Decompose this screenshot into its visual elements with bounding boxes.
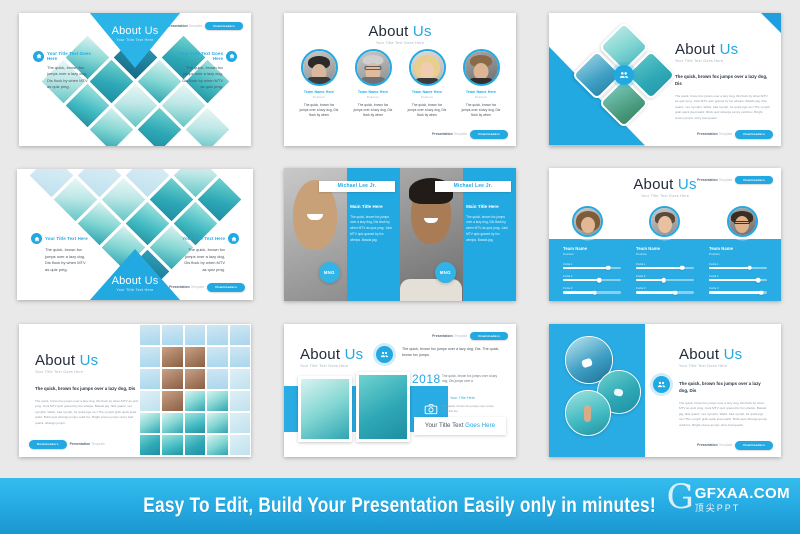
body-paragraph: The quick, brown fox jumps over a lazy d… — [35, 399, 139, 427]
page-subtitle: Your Title Text Goes Here — [679, 364, 769, 368]
slide-about-us-diamond-cluster[interactable]: About Us Your Title Text Goes Here The q… — [549, 13, 781, 146]
left-heading: Your Title Text Here — [45, 236, 88, 241]
skill-slider[interactable] — [709, 279, 767, 281]
member-position: Position — [299, 95, 339, 99]
slide-about-us-mosaic-bottom[interactable]: About Us Your Title Text Here Your Title… — [17, 169, 253, 300]
team-member-card[interactable]: Team Name Here Position The quick, brown… — [353, 49, 393, 119]
skill-label: Fortia 3 — [636, 286, 694, 290]
slide-footer: Presentation Template Downloaders — [432, 332, 508, 341]
profile-card-2[interactable]: Michael Lee Jr. Main Title Here The quic… — [400, 168, 516, 301]
banner-text: Easy To Edit, Build Your Presentation Ea… — [144, 494, 657, 518]
member-name: Team Name Here — [299, 90, 339, 94]
page-title: About Us — [112, 275, 159, 287]
card-text-block: Main Title Here The quick, brown fox jum… — [466, 204, 510, 245]
member-name: Team Name — [563, 246, 621, 251]
member-text: The quick, brown fox jumps over a lazy d… — [299, 103, 339, 119]
skill-label: Fortia 2 — [563, 274, 621, 278]
footer-label: Presentation Template — [70, 442, 105, 446]
member-name: Team Name Here — [461, 90, 501, 94]
comment-heading: Your Title Here — [450, 396, 475, 400]
slide-title-block: About Us Your Title Text Here — [112, 275, 159, 292]
skill-item[interactable]: Fortia 2 — [709, 274, 767, 281]
skill-slider[interactable] — [636, 291, 694, 293]
member-position: Position — [407, 95, 447, 99]
title-bar[interactable]: Your Title Text Goes Here — [414, 417, 506, 435]
download-button[interactable]: Downloaders — [29, 440, 67, 449]
badge-mng[interactable]: MNG — [319, 262, 340, 283]
member-position: Position — [461, 95, 501, 99]
slide-title-block: About Us Your Title Text Goes Here — [284, 23, 516, 45]
right-heading-row: Your Title Text Goes Here — [179, 51, 237, 62]
watermark-logo: G — [667, 482, 694, 513]
page-subtitle: Your Title Text Goes Here — [675, 59, 771, 63]
card-text: The quick, brown fox jumps over a lazy d… — [466, 215, 510, 245]
footer-label: Presentation Template — [432, 132, 467, 136]
team-member-card[interactable]: Team Name Here Position The quick, brown… — [461, 49, 501, 119]
speech-bubble-icon — [442, 396, 448, 402]
watermark-line-1: GFXAA.COM — [695, 486, 790, 501]
profile-card-1[interactable]: Michael Lee Jr. Main Title Here The quic… — [284, 168, 400, 301]
page-subtitle: Your Title Text Here — [112, 38, 159, 42]
skill-slider[interactable] — [563, 291, 621, 293]
right-body-text: The quick, brown fox jumps over a lazy d… — [179, 65, 237, 91]
avatar-row — [549, 206, 781, 237]
footer-label: Presentation Template — [697, 443, 732, 447]
skill-slider[interactable] — [709, 267, 767, 269]
left-text-column: Your Title Text Here The quick, brown fo… — [31, 233, 89, 273]
footer-label: Presentation Template — [697, 132, 732, 136]
page-title: About Us — [679, 346, 769, 363]
body-paragraph: The quick, brown fox jumps over a lazy d… — [679, 401, 769, 429]
member-name: Team Name Here — [353, 90, 393, 94]
avatar — [301, 49, 338, 86]
comment-text: The quick, brown fox jumps over a lazy d… — [442, 404, 500, 415]
page-subtitle: Your Title Text Goes Here — [549, 194, 781, 198]
skill-item[interactable]: Fortia 3 — [563, 286, 621, 293]
page-subtitle: Your Title Text Goes Here — [284, 41, 516, 45]
skill-item[interactable]: Fortia 3 — [709, 286, 767, 293]
avatar — [409, 49, 446, 86]
text-block: About Us Your Title Text Goes Here The q… — [675, 41, 771, 122]
slide-about-us-team-four[interactable]: About Us Your Title Text Goes Here Team … — [284, 13, 516, 146]
page-subtitle: Your Title Text Goes Here — [35, 370, 139, 374]
slide-about-us-team-skills[interactable]: About Us Your Title Text Goes Here — [549, 168, 781, 301]
home-icon — [226, 51, 237, 62]
footer-label: Presentation Template — [432, 334, 467, 338]
page-title: About Us — [284, 23, 516, 40]
skill-slider[interactable] — [709, 291, 767, 293]
lead-paragraph: The quick, brown fox jumps over a lazy d… — [679, 380, 769, 394]
text-block: About Us Your Title Text Goes Here — [300, 346, 366, 368]
left-text-column: Your Title Text Goes Here The quick, bro… — [33, 51, 91, 91]
skill-item[interactable]: Fortia 1 — [563, 262, 621, 269]
comment-block: Your Title Here The quick, brown fox jum… — [442, 396, 500, 415]
slide-cell-6: About Us Your Title Text Goes Here — [530, 158, 800, 310]
download-button[interactable]: Downloaders — [735, 441, 773, 450]
slide-cell-5: Michael Lee Jr. Main Title Here The quic… — [270, 158, 530, 310]
badge-mng[interactable]: MNG — [435, 262, 456, 283]
intro-text: The quick, brown fox jumps over a lazy d… — [402, 346, 500, 358]
right-text-column: Your Title Text Goes Here The quick, bro… — [179, 51, 237, 91]
slide-about-us-circle-gallery[interactable]: About Us Your Title Text Goes Here The q… — [549, 324, 781, 457]
skill-label: Fortia 3 — [563, 286, 621, 290]
skill-slider[interactable] — [563, 267, 621, 269]
people-icon — [614, 65, 634, 85]
text-block: About Us Your Title Text Goes Here The q… — [679, 346, 769, 429]
right-heading: Your Title Text Goes Here — [179, 51, 223, 61]
member-position: Position — [353, 95, 393, 99]
slide-footer: Downloaders Presentation Template — [29, 440, 105, 449]
slide-cell-9: About Us Your Title Text Goes Here The q… — [530, 310, 800, 470]
member-position: Position — [709, 252, 767, 256]
slide-cell-8: About Us Your Title Text Goes Here The q… — [270, 310, 530, 470]
skill-slider[interactable] — [636, 267, 694, 269]
team-member-card[interactable]: Team Name Here Position The quick, brown… — [299, 49, 339, 119]
slide-footer: Presentation Template Downloaders — [697, 441, 773, 450]
page-subtitle: Your Title Text Here — [112, 288, 159, 292]
promo-banner: Easy To Edit, Build Your Presentation Ea… — [0, 478, 800, 534]
home-icon — [31, 233, 42, 244]
home-icon — [228, 233, 239, 244]
slide-thumbnail-grid: About Us Your Title Text Here Your Title… — [0, 0, 800, 478]
slide-cell-4: About Us Your Title Text Here Your Title… — [0, 158, 270, 310]
page-subtitle: Your Title Text Goes Here — [300, 364, 366, 368]
member-text: The quick, brown fox jumps over a lazy d… — [353, 103, 393, 119]
left-heading-row: Your Title Text Goes Here — [33, 51, 91, 62]
member-position: Position — [636, 252, 694, 256]
left-body-text: The quick, brown fox jumps over a lazy d… — [33, 65, 91, 91]
avatar — [727, 206, 758, 237]
member-name: Team Name — [709, 246, 767, 251]
skill-slider[interactable] — [563, 279, 621, 281]
slide-about-us-mosaic-top[interactable]: About Us Your Title Text Here Your Title… — [19, 13, 251, 146]
people-icon — [653, 376, 670, 393]
photo-frame[interactable] — [298, 376, 352, 442]
member-position: Position — [563, 252, 621, 256]
left-heading-row: Your Title Text Here — [31, 233, 89, 244]
download-button[interactable]: Downloaders — [205, 22, 243, 31]
name-tag: Michael Lee Jr. — [319, 181, 395, 192]
skill-label: Fortia 3 — [709, 286, 767, 290]
people-icon — [376, 346, 393, 363]
left-body-text: The quick, brown fox jumps over a lazy d… — [31, 247, 89, 273]
download-button[interactable]: Downloaders — [207, 283, 245, 292]
card-text: The quick, brown fox jumps over a lazy d… — [350, 215, 394, 245]
lead-paragraph: The quick, brown fox jumps over a lazy d… — [35, 385, 139, 392]
slide-about-us-square-mosaic[interactable]: About Us Your Title Text Goes Here The q… — [19, 324, 251, 457]
download-button[interactable]: Downloaders — [735, 176, 773, 185]
skill-column: Team Name Position Fortia 1 Fortia 2 For… — [636, 246, 694, 294]
avatar — [355, 49, 392, 86]
slide-cell-7: About Us Your Title Text Goes Here The q… — [0, 310, 270, 470]
slide-cell-2: About Us Your Title Text Goes Here Team … — [270, 0, 530, 158]
footer-label: Presentation Template — [697, 178, 732, 182]
circle-photo[interactable] — [565, 390, 611, 436]
skill-column: Team Name Position Fortia 1 Fortia 2 For… — [709, 246, 767, 294]
left-heading: Your Title Text Goes Here — [47, 51, 91, 61]
diamond-cluster — [579, 31, 669, 127]
member-text: The quick, brown fox jumps over a lazy d… — [407, 103, 447, 119]
team-member-card[interactable]: Team Name Here Position The quick, brown… — [407, 49, 447, 119]
avatar — [649, 206, 680, 237]
text-block: About Us Your Title Text Goes Here The q… — [35, 352, 139, 427]
watermark-line-2: 顶尖PPT — [695, 504, 790, 513]
card-text-block: Main Title Here The quick, brown fox jum… — [350, 204, 394, 245]
skill-item[interactable]: Fortia 2 — [563, 274, 621, 281]
slide-cell-1: About Us Your Title Text Here Your Title… — [0, 0, 270, 158]
skill-item[interactable]: Fortia 2 — [636, 274, 694, 281]
home-icon — [33, 51, 44, 62]
page-title: About Us — [675, 41, 771, 58]
skill-label: Fortia 1 — [563, 262, 621, 266]
title-bar-text: Your Title Text Goes Here — [425, 422, 495, 429]
skill-item[interactable]: Fortia 1 — [709, 262, 767, 269]
right-text-column: Your Title Text Here The quick, brown fo… — [181, 233, 239, 273]
photo-frame[interactable] — [356, 372, 410, 442]
page-title: About Us — [112, 25, 159, 37]
skill-label: Fortia 1 — [709, 262, 767, 266]
download-button[interactable]: Downloaders — [735, 130, 773, 139]
card-heading: Main Title Here — [350, 204, 394, 209]
name-tag: Michael Lee Jr. — [435, 181, 511, 192]
skill-item[interactable]: Fortia 1 — [636, 262, 694, 269]
skill-item[interactable]: Fortia 3 — [636, 286, 694, 293]
member-name: Team Name Here — [407, 90, 447, 94]
avatar — [463, 49, 500, 86]
slide-footer: Presentation Template Downloaders — [697, 176, 773, 185]
slide-about-us-gallery-2018[interactable]: About Us Your Title Text Goes Here The q… — [284, 324, 516, 457]
square-mosaic — [139, 324, 251, 457]
skill-label: Fortia 1 — [636, 262, 694, 266]
avatar — [572, 206, 603, 237]
comment-heading-row: Your Title Here — [442, 396, 500, 402]
lead-paragraph: The quick, brown fox jumps over a lazy d… — [675, 73, 771, 87]
skill-column: Team Name Position Fortia 1 Fortia 2 For… — [563, 246, 621, 294]
slide-cell-3: About Us Your Title Text Goes Here The q… — [530, 0, 800, 158]
card-heading: Main Title Here — [466, 204, 510, 209]
skill-slider[interactable] — [636, 279, 694, 281]
download-button[interactable]: Downloaders — [470, 130, 508, 139]
page-title: About Us — [35, 352, 139, 369]
body-paragraph: The quick, brown fox jumps over a lazy d… — [675, 94, 771, 122]
member-name: Team Name — [636, 246, 694, 251]
right-body-text: The quick, brown fox jumps over a lazy d… — [181, 247, 239, 273]
corner-triangle — [761, 13, 781, 33]
download-button[interactable]: Downloaders — [470, 332, 508, 341]
team-avatar-row: Team Name Here Position The quick, brown… — [284, 49, 516, 119]
year-label: 2018 — [412, 372, 441, 386]
year-text: The quick, brown fox jumps over a lazy d… — [442, 374, 500, 386]
slide-footer: Presentation Template Downloaders — [697, 130, 773, 139]
page-title: About Us — [300, 346, 366, 363]
slide-title-block: About Us Your Title Text Here — [112, 25, 159, 42]
slide-footer: Presentation Template Downloaders — [432, 130, 508, 139]
right-heading: Your Title Text Here — [182, 236, 225, 241]
member-text: The quick, brown fox jumps over a lazy d… — [461, 103, 501, 119]
slide-profile-portraits[interactable]: Michael Lee Jr. Main Title Here The quic… — [284, 168, 516, 301]
right-heading-row: Your Title Text Here — [181, 233, 239, 244]
watermark: G GFXAA.COM 顶尖PPT — [667, 482, 790, 513]
